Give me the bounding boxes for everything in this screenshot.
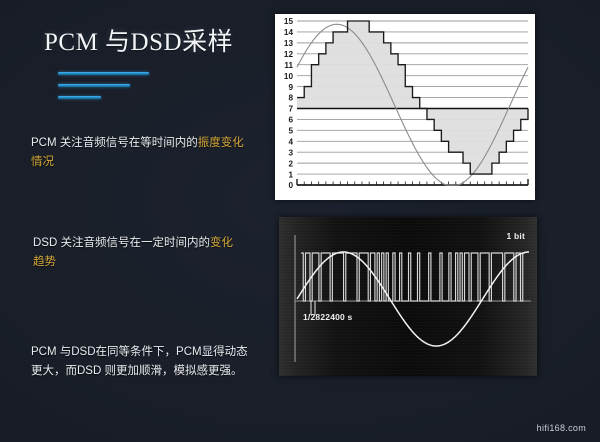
svg-text:4: 4 (288, 137, 293, 146)
svg-text:5: 5 (288, 127, 293, 136)
svg-text:9: 9 (288, 83, 293, 92)
dsd-pdm-chart: 1 bit 1/2822400 s (279, 217, 537, 376)
svg-text:15: 15 (284, 17, 294, 26)
accent-rule-3 (58, 96, 101, 99)
presentation-slide: PCM 与DSD采样 PCM 关注音频信号在等时间内的振度变化情况 DSD 关注… (0, 0, 600, 442)
paragraph-pcm-lead: PCM 关注音频信号在等时间内 (31, 137, 186, 149)
svg-text:3: 3 (288, 148, 293, 157)
paragraph-pcm: PCM 关注音频信号在等时间内的振度变化情况 (31, 134, 246, 172)
svg-text:13: 13 (284, 39, 294, 48)
dsd-sample-rate-label: 1/2822400 s (303, 312, 352, 322)
paragraph-comparison: PCM 与DSD在同等条件下，PCM显得动态更大，而DSD 则更加顺滑，模拟感更… (31, 343, 259, 381)
decorative-rules (58, 72, 149, 108)
paragraph-dsd: DSD 关注音频信号在一定时间内的变化趋势 (33, 234, 239, 272)
dsd-bit-depth-label: 1 bit (507, 231, 525, 241)
svg-text:2: 2 (288, 159, 293, 168)
pcm-quantization-chart: 0123456789101112131415 (275, 14, 535, 200)
svg-text:6: 6 (288, 116, 293, 125)
svg-text:1: 1 (288, 170, 293, 179)
paragraph-pcm-mid: 的 (186, 137, 198, 149)
svg-text:11: 11 (284, 61, 293, 70)
dsd-chart-svg (279, 217, 537, 376)
paragraph-dsd-lead: DSD 关注音频信号在一定时间 (33, 237, 187, 249)
svg-text:12: 12 (284, 50, 294, 59)
accent-rule-2 (58, 84, 130, 87)
svg-text:14: 14 (284, 28, 294, 37)
svg-text:7: 7 (288, 105, 293, 114)
svg-text:10: 10 (284, 72, 294, 81)
watermark: hifi168.com (537, 423, 586, 433)
page-title: PCM 与DSD采样 (44, 22, 233, 58)
svg-text:0: 0 (288, 181, 293, 190)
paragraph-dsd-mid: 内的 (187, 237, 210, 249)
accent-rule-1 (58, 72, 149, 75)
svg-text:8: 8 (288, 94, 293, 103)
pcm-chart-svg: 0123456789101112131415 (275, 14, 535, 200)
